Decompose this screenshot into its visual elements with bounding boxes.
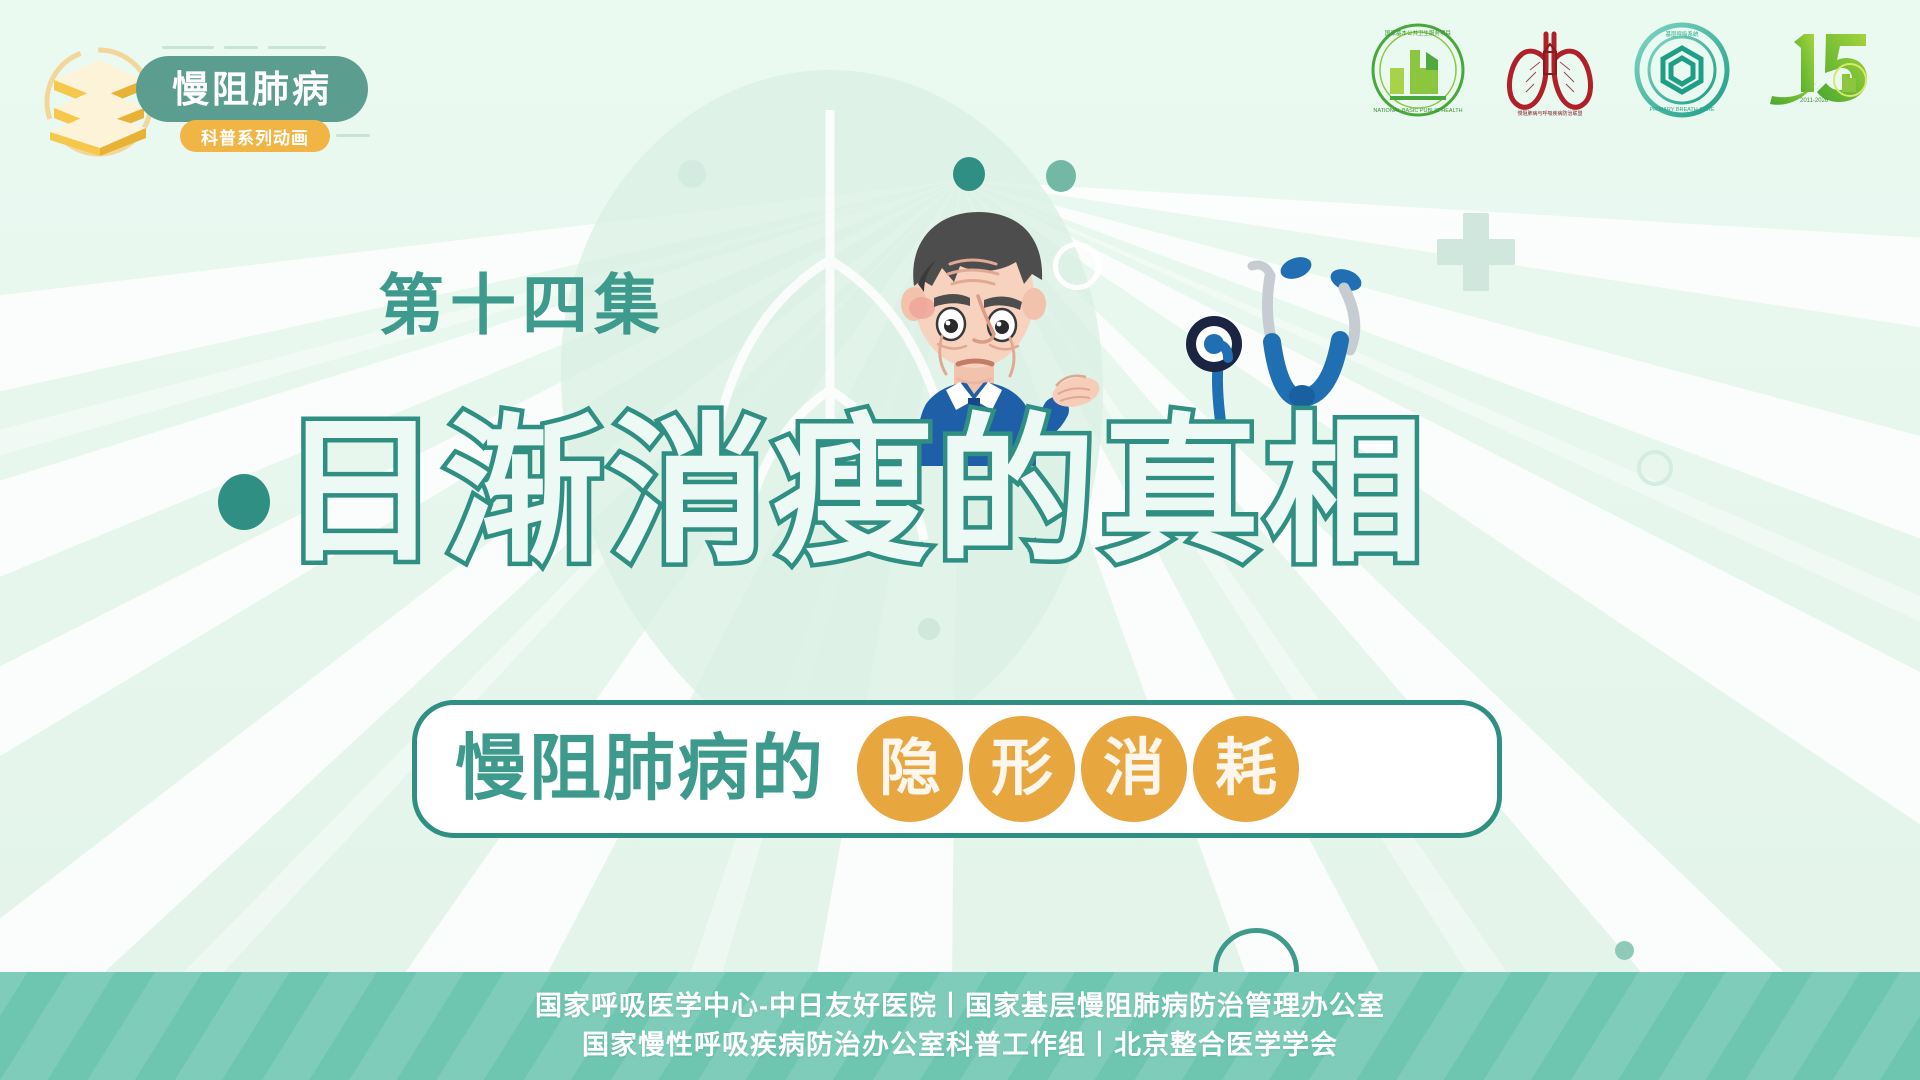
svg-text:NATIONAL BASIC PUBLIC HEALTH: NATIONAL BASIC PUBLIC HEALTH: [1373, 108, 1462, 114]
subtitle-banner: 慢阻肺病的 隐 形 消 耗: [412, 700, 1502, 838]
main-title: 日渐消瘦的真相: [218, 412, 1638, 592]
subtitle-lead-text: 慢阻肺病的: [455, 733, 825, 805]
svg-text:国家基本公共卫生服务项目: 国家基本公共卫生服务项目: [1385, 29, 1451, 37]
decorative-dash: [336, 134, 370, 137]
brand-logo: 慢阻肺病 科普系列动画: [40, 38, 370, 156]
decorative-dash: [268, 46, 326, 49]
main-title-text: 日渐消瘦的真相: [280, 412, 1428, 572]
primary-breath-care-logo: 基层呼吸系统 PRIMARY BREATH CARE: [1634, 22, 1730, 123]
subtitle-chip: 形: [969, 716, 1075, 822]
brand-subtitle: 科普系列动画: [201, 124, 309, 149]
footer-stripe-texture: [0, 972, 1920, 1080]
episode-label: 第十四集: [378, 272, 666, 338]
footer-line-1: 国家呼吸医学中心-中日友好医院丨国家基层慢阻肺病防治管理办公室: [535, 991, 1385, 1022]
decorative-dot: [1615, 941, 1634, 960]
svg-text:PRIMARY BREATH CARE: PRIMARY BREATH CARE: [1649, 107, 1714, 113]
subtitle-chip: 隐: [857, 716, 963, 822]
svg-text:基层呼吸系统: 基层呼吸系统: [1665, 30, 1699, 38]
subtitle-chips: 隐 形 消 耗: [857, 716, 1299, 822]
svg-text:慢阻肺病与呼吸疾病防治联盟: 慢阻肺病与呼吸疾病防治联盟: [1517, 110, 1582, 117]
decorative-dot: [678, 160, 706, 188]
decorative-dot: [918, 618, 940, 640]
brand-subtitle-pill: 科普系列动画: [180, 120, 330, 152]
svg-text:2011-2026: 2011-2026: [1800, 98, 1829, 104]
subtitle-chip: 消: [1081, 716, 1187, 822]
leading-dot-icon: [218, 474, 270, 530]
decorative-dash: [162, 46, 214, 49]
subtitle-chip: 耗: [1193, 716, 1299, 822]
decorative-dash: [224, 46, 258, 49]
partner-logos: 国家基本公共卫生服务项目 NATIONAL BASIC PUBLIC HEALT…: [1370, 22, 1876, 123]
brand-title: 慢阻肺病: [172, 71, 332, 108]
brand-title-pill: 慢阻肺病: [136, 56, 368, 122]
lungs-emblem-logo: 慢阻肺病与呼吸疾病防治联盟: [1500, 22, 1600, 123]
anniversary-15-logo: 2011-2026: [1764, 22, 1876, 123]
medical-cross-icon: [1437, 213, 1515, 291]
decorative-ring: [1637, 450, 1673, 486]
title-card-stage: 慢阻肺病 科普系列动画 国家基本公共卫生服务项目 NATIONAL BASIC …: [0, 0, 1920, 1080]
national-basic-public-health-service-logo: 国家基本公共卫生服务项目 NATIONAL BASIC PUBLIC HEALT…: [1370, 22, 1466, 123]
footer-credits: 国家呼吸医学中心-中日友好医院丨国家基层慢阻肺病防治管理办公室 国家慢性呼吸疾病…: [0, 972, 1920, 1080]
footer-line-2: 国家慢性呼吸疾病防治办公室科普工作组丨北京整合医学学会: [582, 1030, 1338, 1061]
